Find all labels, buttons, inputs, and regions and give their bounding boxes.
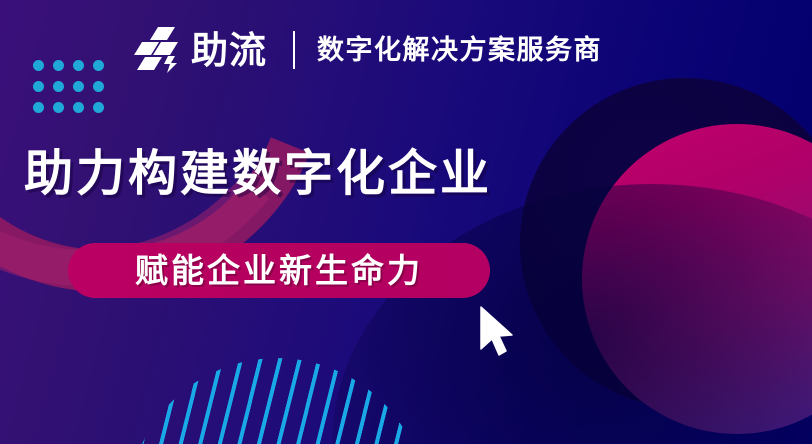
hero-headline: 助力构建数字化企业 xyxy=(24,148,492,202)
grid-dot xyxy=(53,81,64,92)
grid-dot xyxy=(73,102,84,113)
cta-pill-label: 赋能企业新生命力 xyxy=(135,254,423,287)
grid-dot xyxy=(53,60,64,71)
promo-banner: 助流 数字化解决方案服务商 助力构建数字化企业 赋能企业新生命力 xyxy=(0,0,812,444)
zhuliu-lightning-logo-icon xyxy=(132,25,182,75)
grid-dot xyxy=(33,81,44,92)
grid-dot xyxy=(93,102,104,113)
vertical-divider xyxy=(293,31,295,69)
diagonal-stripes-icon xyxy=(128,358,426,444)
grid-dot xyxy=(93,81,104,92)
logo-wordmark: 助流 xyxy=(191,32,267,69)
brand-header: 助流 数字化解决方案服务商 xyxy=(132,22,602,78)
grid-dot xyxy=(53,102,64,113)
grid-dot xyxy=(73,60,84,71)
grid-dot xyxy=(33,60,44,71)
grid-dot xyxy=(73,81,84,92)
dot-grid-icon xyxy=(33,60,113,123)
grid-dot xyxy=(93,60,104,71)
cta-pill-button[interactable]: 赋能企业新生命力 xyxy=(68,243,490,298)
brand-tagline: 数字化解决方案服务商 xyxy=(317,37,602,64)
grid-dot xyxy=(33,102,44,113)
